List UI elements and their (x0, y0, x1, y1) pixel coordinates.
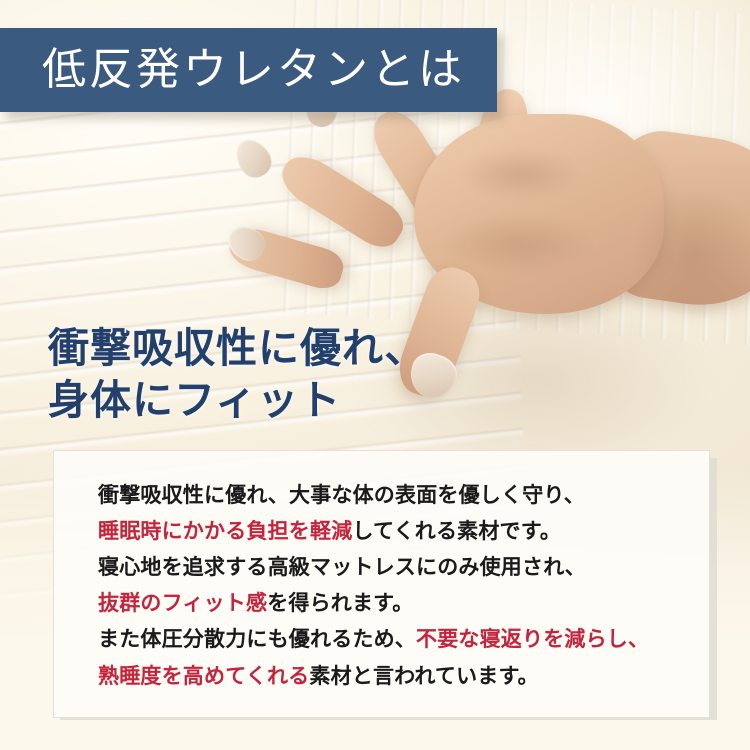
body-line-6-highlight: 熟睡度を高めてくれる (98, 664, 309, 688)
body-line-6-rest: 素材と言われています。 (309, 664, 538, 688)
body-line-3-text: 寝心地を追求する高級マットレスにのみ使用され、 (98, 555, 586, 579)
bottom-cream-strip (0, 720, 750, 750)
wrist-shadow (634, 188, 750, 318)
promo-page: 低反発ウレタンとは 衝撃吸収性に優れ、 身体にフィット 衝撃吸収性に優れ、大事な… (0, 0, 750, 750)
knuckle-shadow-lower (442, 214, 592, 274)
banner-title: 低反発ウレタンとは (0, 48, 465, 92)
body-line-4-rest: を得られます。 (267, 591, 413, 615)
body-line-2-highlight: 睡眠時にかかる負担を軽減 (98, 519, 352, 543)
body-line-6: 熟睡度を高めてくれる素材と言われています。 (98, 658, 679, 694)
body-line-4: 抜群のフィット感を得られます。 (98, 585, 679, 621)
body-line-4-highlight: 抜群のフィット感 (98, 591, 267, 615)
header-banner: 低反発ウレタンとは (0, 28, 497, 112)
body-line-5-highlight: 不要な寝返りを減らし、 (416, 627, 649, 651)
body-line-1: 衝撃吸収性に優れ、大事な体の表面を優しく守り、 (98, 477, 679, 513)
headline-line-1: 衝撃吸収性に優れ、 (48, 325, 426, 371)
body-line-5: また体圧分散力にも優れるため、不要な寝返りを減らし、 (98, 621, 679, 657)
knuckle-shadow-upper (460, 148, 580, 200)
body-line-1-text: 衝撃吸収性に優れ、大事な体の表面を優しく守り、 (98, 483, 585, 507)
body-line-5-rest: また体圧分散力にも優れるため、 (98, 627, 416, 651)
body-line-3: 寝心地を追求する高級マットレスにのみ使用され、 (98, 549, 679, 585)
headline-line-2: 身体にフィット (48, 374, 668, 426)
headline: 衝撃吸収性に優れ、 身体にフィット (48, 322, 668, 427)
body-line-2-rest: してくれる素材です。 (352, 519, 561, 543)
description-panel: 衝撃吸収性に優れ、大事な体の表面を優しく守り、 睡眠時にかかる負担を軽減してくれ… (53, 450, 710, 718)
body-line-2: 睡眠時にかかる負担を軽減してくれる素材です。 (98, 513, 679, 549)
